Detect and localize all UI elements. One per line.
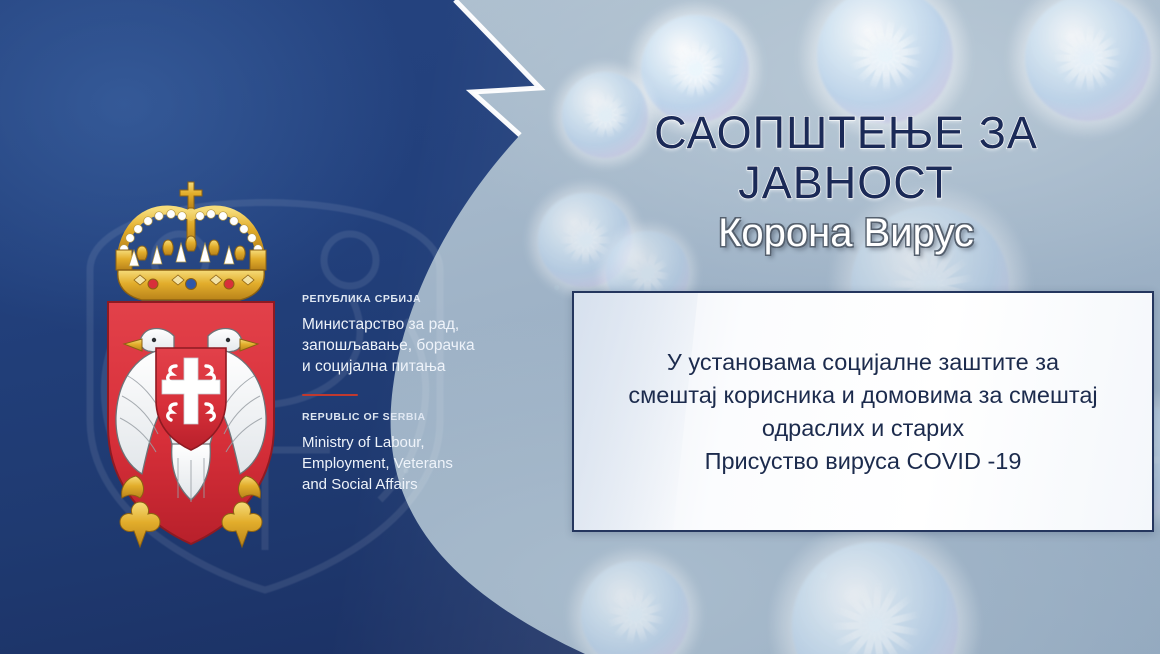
shield — [108, 302, 274, 547]
ministry-name-sr-line-2: запошљавање, борачка — [302, 335, 502, 356]
message-text: У установама социјалне заштите за смешта… — [614, 346, 1111, 478]
crown — [116, 182, 266, 300]
coat-of-arms-of-serbia-icon — [96, 176, 286, 556]
ministry-kicker-en: REPUBLIC OF SERBIA — [302, 412, 502, 423]
message-line-1: У установама социјалне заштите за — [628, 346, 1097, 379]
message-line-2: смештај корисника и домовима за смештај — [628, 379, 1097, 412]
message-line-4: Присуство вируса COVID -19 — [628, 445, 1097, 478]
ministry-name-en-line-2: Employment, Veterans — [302, 453, 502, 474]
press-release-poster: РЕПУБЛИКА СРБИЈА Министарство за рад, за… — [0, 0, 1160, 654]
ministry-name-en-line-3: and Social Affairs — [302, 474, 502, 495]
message-box: У установама социјалне заштите за смешта… — [572, 291, 1154, 532]
page-subtitle: Корона Вирус — [540, 210, 1152, 256]
message-line-3: одраслих и старих — [628, 412, 1097, 445]
ministry-name-en-line-1: Ministry of Labour, — [302, 432, 502, 453]
headline-block: САОПШТЕЊЕ ЗА ЈАВНОСТ Корона Вирус — [540, 108, 1152, 256]
ministry-kicker-sr: РЕПУБЛИКА СРБИЈА — [302, 294, 502, 305]
ministry-identity-block: РЕПУБЛИКА СРБИЈА Министарство за рад, за… — [302, 294, 502, 495]
page-title: САОПШТЕЊЕ ЗА ЈАВНОСТ — [540, 108, 1152, 208]
ministry-name-sr-line-1: Министарство за рад, — [302, 314, 502, 335]
red-divider — [302, 394, 358, 397]
ministry-name-sr-line-3: и социјална питања — [302, 356, 502, 377]
